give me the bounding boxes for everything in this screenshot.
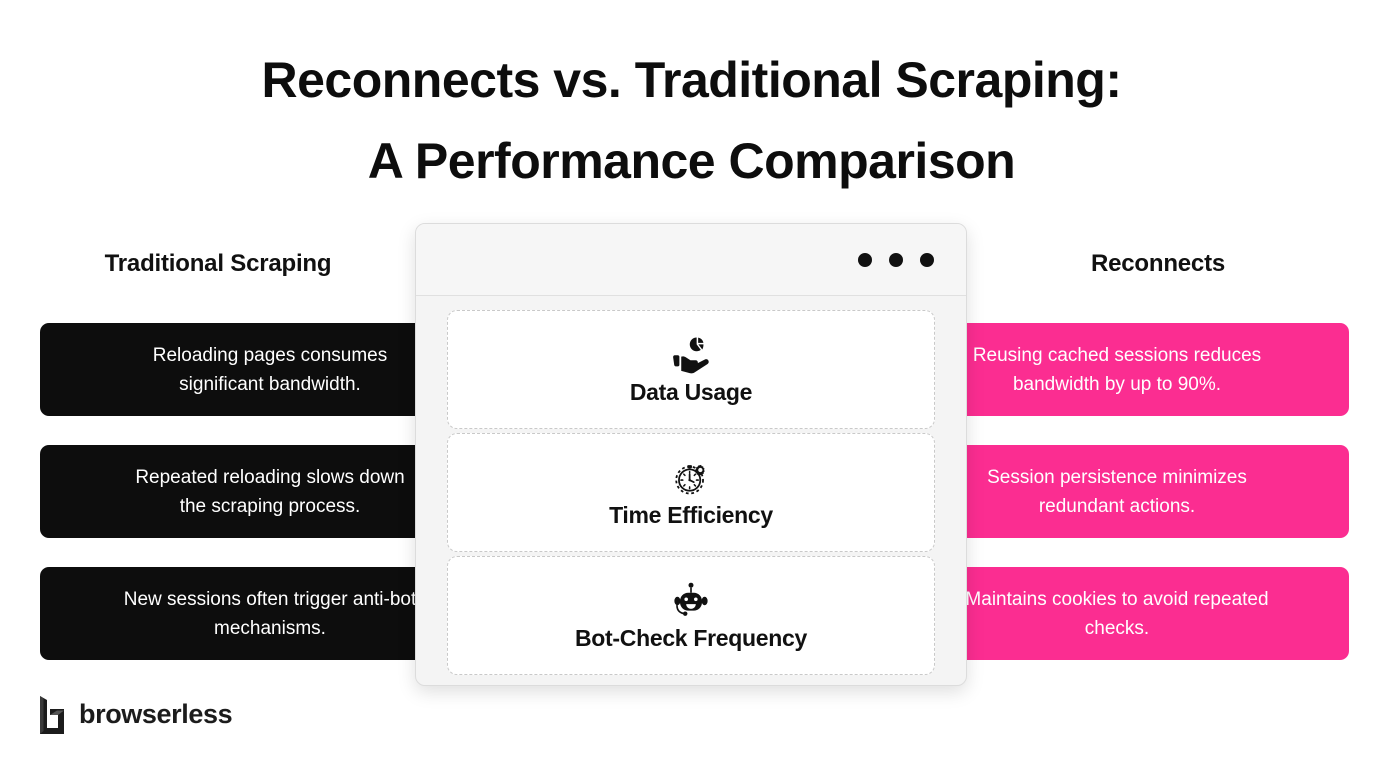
browser-window-content: Data Usage [416, 296, 966, 686]
browserless-logo[interactable]: browserless [38, 694, 232, 734]
robot-head-icon [669, 579, 713, 623]
hand-holding-pie-chart-icon [669, 333, 713, 377]
window-dot-3-icon[interactable] [920, 253, 934, 267]
window-dot-1-icon[interactable] [858, 253, 872, 267]
reconnects-card-2-text: Session persistence minimizes redundant … [952, 463, 1282, 521]
page-title-line-2: A Performance Comparison [0, 121, 1383, 202]
column-header-traditional-scraping: Traditional Scraping [40, 250, 396, 278]
reconnects-card-1-text: Reusing cached sessions reduces bandwidt… [952, 341, 1282, 399]
browserless-b-mark-icon [38, 694, 68, 734]
feature-card-time-efficiency[interactable]: Time Efficiency [447, 433, 935, 552]
feature-label-bot-check-frequency: Bot-Check Frequency [575, 625, 807, 652]
window-dot-2-icon[interactable] [889, 253, 903, 267]
browserless-logo-text: browserless [79, 699, 232, 730]
feature-card-data-usage[interactable]: Data Usage [447, 310, 935, 429]
stopwatch-gear-icon [669, 456, 713, 500]
feature-card-bot-check-frequency[interactable]: Bot-Check Frequency [447, 556, 935, 675]
page-title: Reconnects vs. Traditional Scraping: A P… [0, 40, 1383, 202]
column-header-reconnects: Reconnects [967, 250, 1349, 278]
reconnects-card-3-text: Maintains cookies to avoid repeated chec… [952, 585, 1282, 643]
feature-label-time-efficiency: Time Efficiency [609, 502, 773, 529]
browser-window-titlebar [416, 224, 966, 296]
traditional-card-2-text: Repeated reloading slows down the scrapi… [120, 463, 420, 521]
browser-window-panel: Data Usage [415, 223, 967, 686]
page-title-line-1: Reconnects vs. Traditional Scraping: [0, 40, 1383, 121]
traditional-card-3-text: New sessions often trigger anti-bot mech… [120, 585, 420, 643]
traditional-card-1-text: Reloading pages consumes significant ban… [120, 341, 420, 399]
feature-label-data-usage: Data Usage [630, 379, 752, 406]
